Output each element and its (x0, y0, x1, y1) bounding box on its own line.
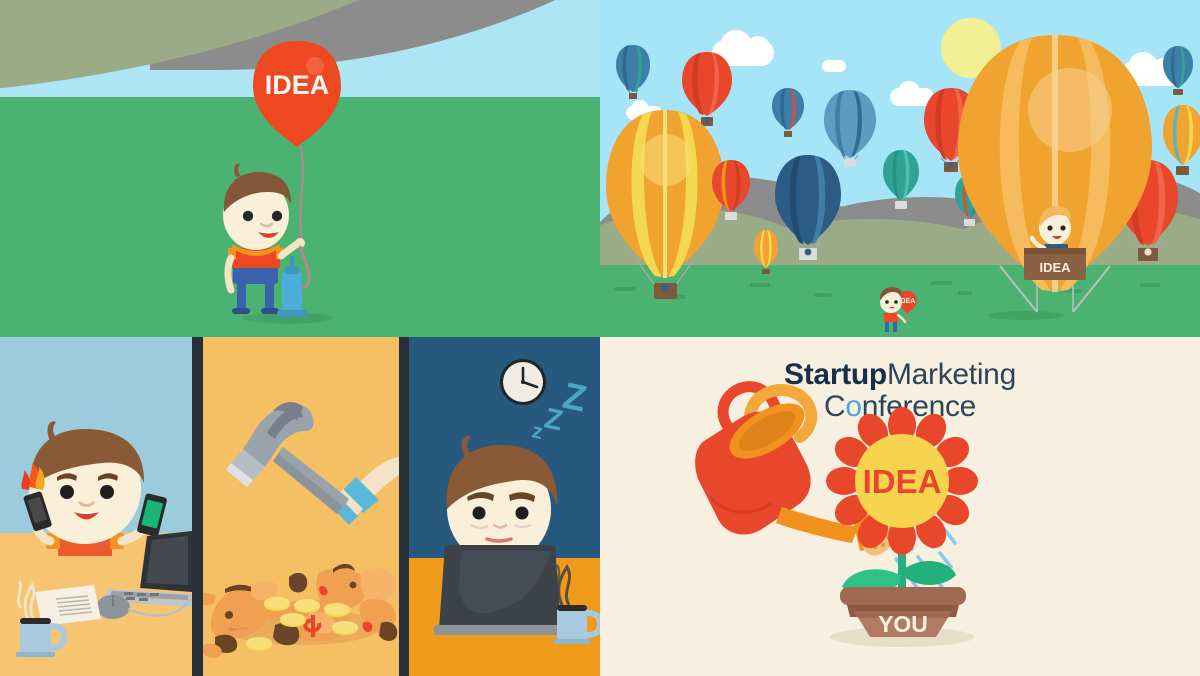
wall-clock-icon (500, 359, 546, 405)
laptop (434, 545, 566, 635)
hot-air-balloon-large-yellow (606, 110, 724, 299)
hot-air-balloon-medium-navy (775, 155, 841, 260)
panel-tired-worker: z Z Z (409, 337, 600, 676)
coin (324, 603, 350, 615)
panel-hot-air-balloons: IDEA IDEA (600, 0, 1200, 337)
hammer-piggy-illustration (203, 337, 399, 676)
right-eye (100, 485, 114, 499)
coin (264, 597, 290, 609)
balloons-illustration: IDEA IDEA (600, 0, 1200, 337)
hammer-arm (329, 457, 399, 525)
left-eye (60, 485, 74, 499)
pot-label: YOU (878, 611, 928, 637)
right-eye (516, 507, 529, 520)
right-shoe (261, 308, 279, 314)
pot-rim-top (840, 587, 966, 605)
idea-flower: IDEA (826, 407, 978, 605)
hot-air-balloon-small (1163, 105, 1200, 175)
hot-air-balloon-hero: IDEA (958, 35, 1152, 312)
boy-balloon-illustration: IDEA (0, 0, 600, 337)
coffee-mug (553, 565, 600, 644)
smartphone-right (136, 493, 167, 537)
mouth (487, 539, 511, 541)
panel-divider (192, 337, 203, 676)
pump-base (277, 310, 307, 317)
hot-air-balloon-small (682, 52, 732, 126)
steam (25, 585, 34, 619)
coin (294, 599, 320, 611)
flower-label: IDEA (863, 463, 942, 500)
balloon-string (299, 141, 303, 243)
left-eye (243, 211, 253, 221)
hot-air-balloon-small (824, 90, 876, 167)
steam (559, 567, 570, 607)
hot-air-balloon-small (616, 45, 650, 99)
steam (557, 565, 559, 595)
hot-air-balloon-small (1163, 46, 1193, 95)
coin (280, 613, 306, 625)
panel-hammer-piggybank (203, 337, 399, 676)
small-boy-with-idea-balloon: IDEA (880, 287, 917, 332)
tired-worker-illustration: z Z Z (409, 337, 600, 676)
pump-rod (290, 256, 294, 268)
pump-body (282, 272, 302, 316)
hot-air-balloon-small (772, 88, 804, 137)
panel-busy-entrepreneur (0, 337, 192, 676)
hammer (226, 402, 349, 514)
balloon-label: IDEA (265, 70, 330, 100)
smashed-piggy-bank (203, 564, 397, 658)
basket-label: IDEA (1039, 260, 1071, 275)
watering-can-flower-illustration: IDEA YOU (600, 337, 1200, 676)
hot-air-balloon-small-green (883, 150, 919, 209)
left-eye (473, 507, 486, 520)
coin (246, 637, 272, 649)
hair-tuft (462, 436, 472, 457)
svg-text:Z: Z (559, 375, 590, 420)
panel-conference-branding: StartupMarketing Conference (600, 337, 1200, 676)
busy-guy-illustration (0, 337, 192, 676)
poster-canvas: IDEA (0, 0, 1200, 676)
right-eye (272, 211, 282, 221)
steam (18, 581, 21, 608)
hair-tuft (234, 164, 241, 177)
hair-tuft (48, 421, 58, 441)
left-shoe (232, 308, 250, 314)
left-arm (228, 258, 231, 290)
hot-air-balloon-tiny-orange (754, 230, 778, 274)
can-rivet (748, 450, 756, 458)
panel-boy-with-idea-balloon: IDEA (0, 0, 600, 337)
boy-figure (223, 164, 334, 324)
coin (332, 621, 358, 633)
panel-divider (399, 337, 409, 676)
